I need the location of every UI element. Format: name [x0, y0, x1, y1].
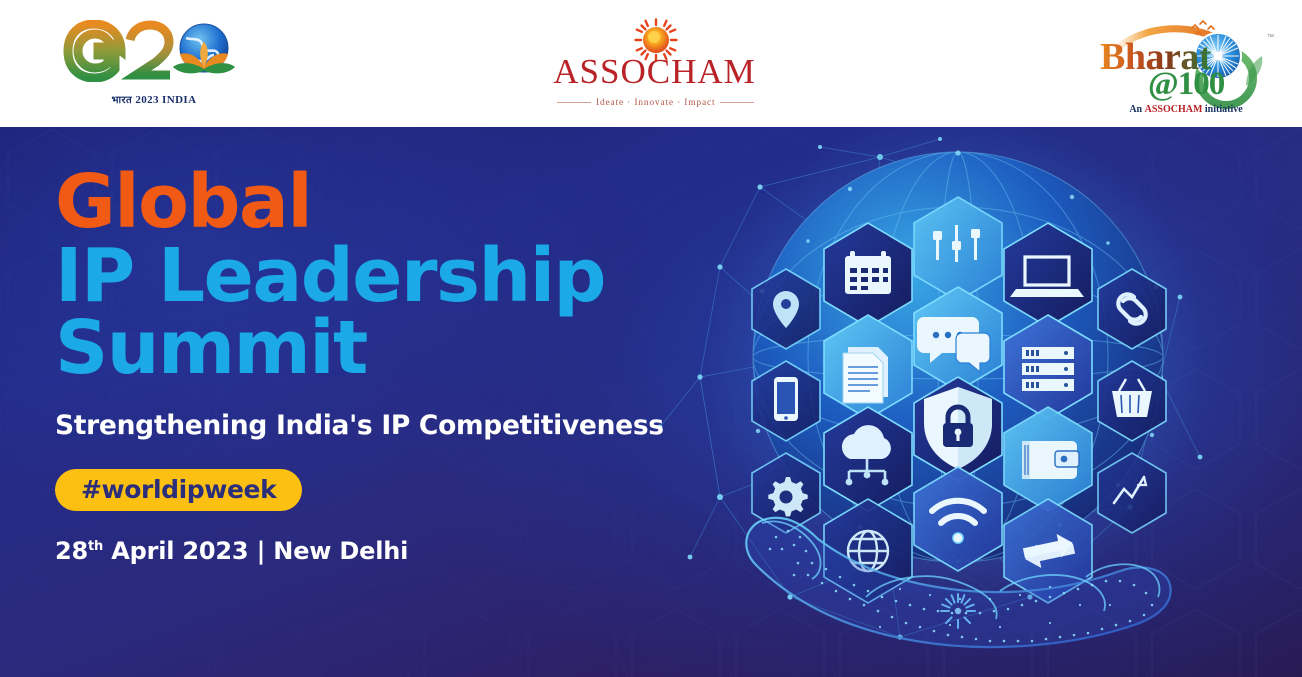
bharat-at-100-logo: Bharat @100 ™ An ASSOCHAM initiative	[1096, 16, 1276, 112]
document-icon	[843, 347, 888, 403]
banner-copy: Global IP Leadership Summit Strengthenin…	[55, 167, 715, 565]
g20-logo: भारत 2023 INDIA	[52, 14, 252, 114]
calendar-icon	[845, 251, 891, 294]
tagline-rule-left	[557, 102, 591, 103]
event-banner: Global IP Leadership Summit Strengthenin…	[0, 127, 1302, 677]
bharat-subtitle-prefix: An	[1129, 104, 1144, 115]
g20-mark-icon	[60, 20, 250, 82]
smartphone-icon	[774, 377, 798, 421]
globe-in-hand-illustration	[700, 127, 1220, 677]
assocham-tagline: Ideate · Innovate · Impact	[552, 98, 757, 108]
event-date-ordinal: th	[88, 539, 103, 554]
bharat-subtitle-suffix: initiative	[1202, 104, 1242, 115]
g20-caption-text: 2023 INDIA	[135, 94, 196, 106]
event-date-rest: April 2023 | New Delhi	[103, 537, 408, 565]
bharat-subtitle: An ASSOCHAM initiative	[1096, 104, 1276, 115]
trademark-symbol: ™	[1267, 34, 1274, 41]
wallet-icon	[1022, 441, 1079, 479]
g20-caption-devanagari: भारत	[112, 95, 133, 106]
assocham-wordmark: ASSOCHAM	[552, 54, 757, 89]
title-line-3: Summit	[55, 313, 715, 385]
gear-icon	[768, 477, 807, 516]
assocham-logo: ASSOCHAM Ideate · Innovate · Impact	[552, 18, 757, 110]
server-icon	[1022, 347, 1074, 391]
title-line-2: IP Leadership	[55, 241, 715, 313]
bharat-subtitle-brand: ASSOCHAM	[1145, 104, 1203, 115]
event-dateline: 28th April 2023 | New Delhi	[55, 537, 715, 565]
header-bar: भारत 2023 INDIA	[0, 0, 1302, 127]
event-date-day: 28	[55, 537, 88, 565]
title-line-1: Global	[55, 167, 715, 239]
g20-caption: भारत 2023 INDIA	[64, 92, 244, 106]
tagline-rule-right	[720, 102, 754, 103]
assocham-tagline-text: Ideate · Innovate · Impact	[596, 98, 715, 108]
bharat-at-hundred: @100	[1148, 68, 1224, 101]
banner-subtitle: Strengthening India's IP Competitiveness	[55, 410, 715, 441]
hashtag-badge[interactable]: #worldipweek	[55, 469, 302, 511]
